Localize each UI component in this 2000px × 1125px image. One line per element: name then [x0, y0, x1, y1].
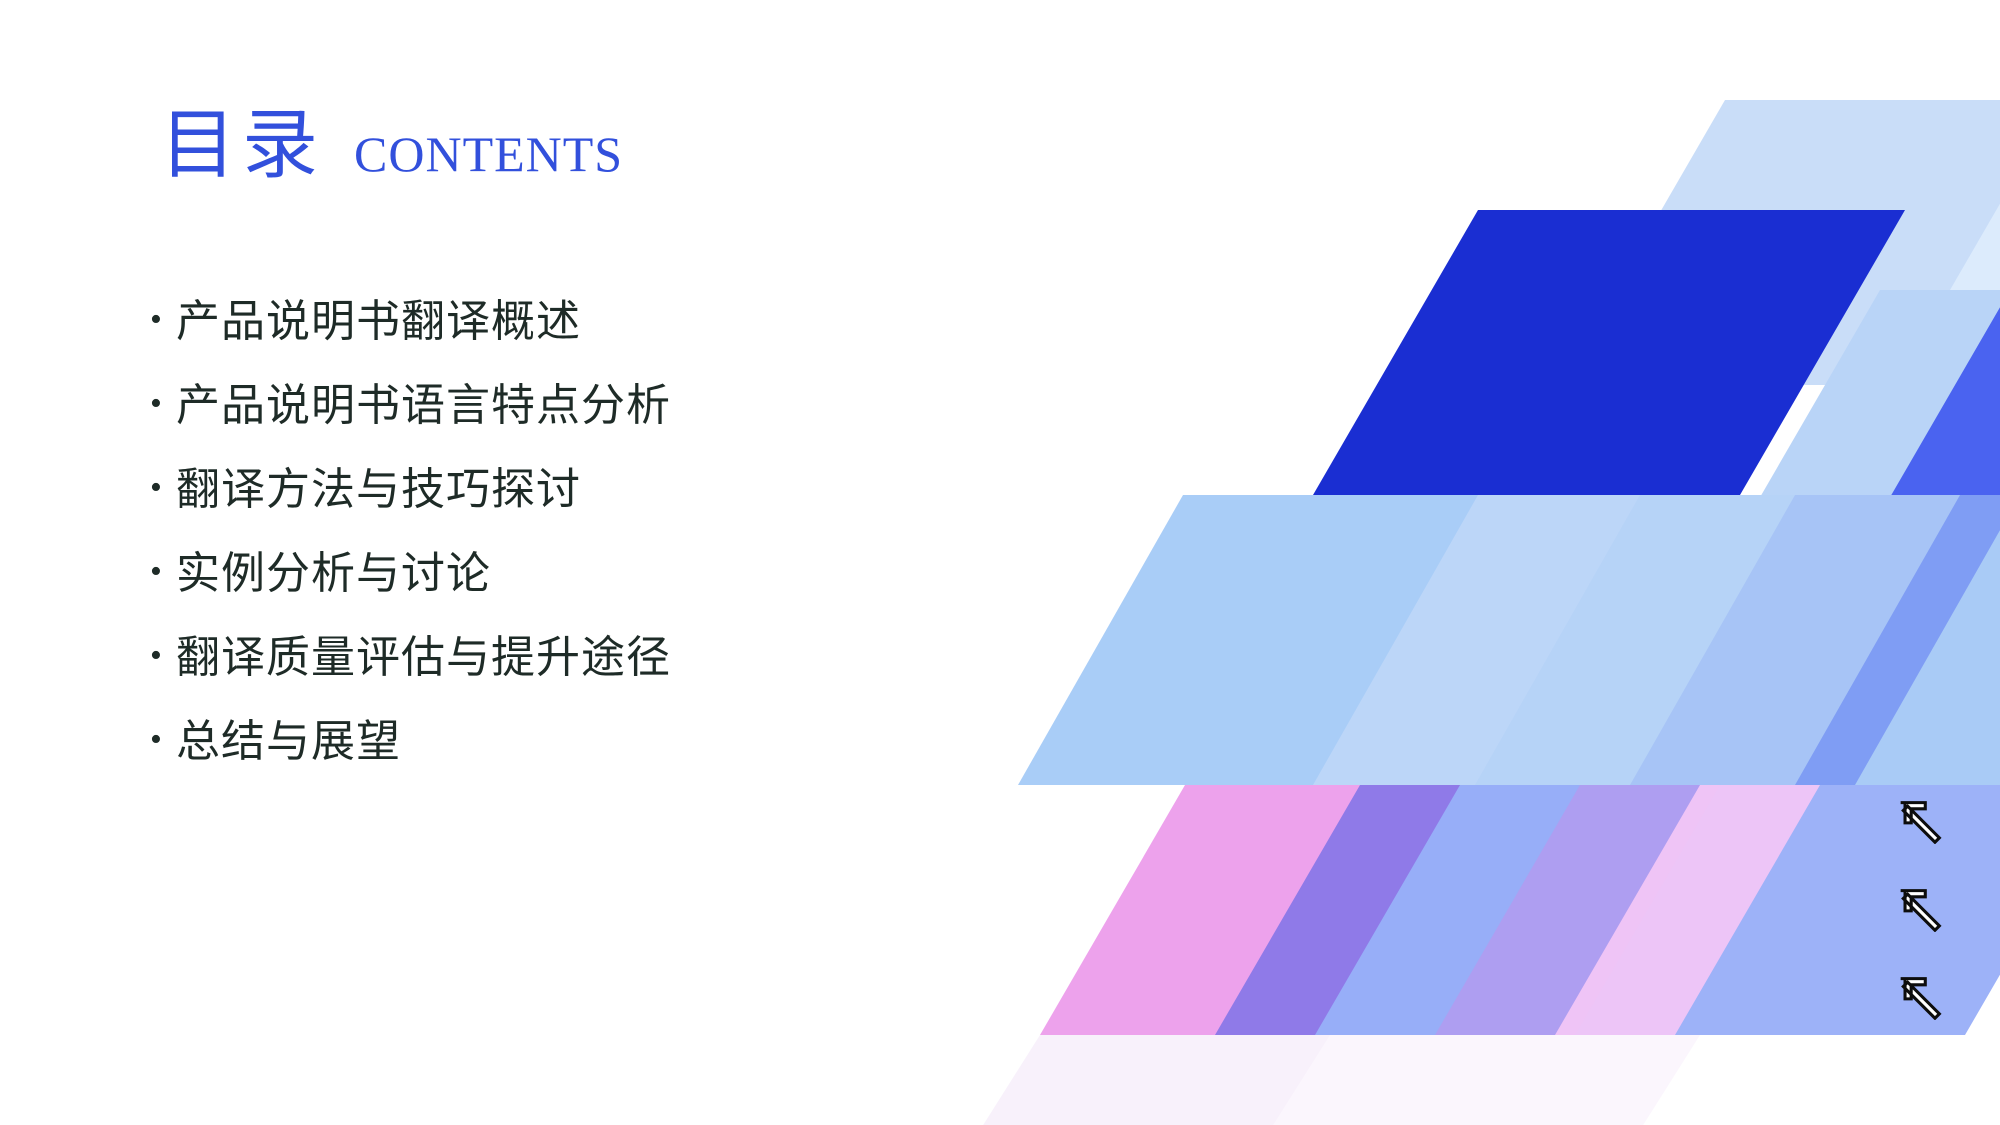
shape-pale-blue-row3-mid: [1313, 495, 1870, 785]
shape-mid-blue-row3-right: [1630, 495, 2000, 785]
bullet-dot-icon: •: [150, 723, 176, 757]
bullet-dot-icon: •: [150, 303, 176, 337]
contents-panel: 目录 CONTENTS • 产品说明书翻译概述 • 产品说明书语言特点分析 • …: [0, 0, 900, 1125]
bullet-dot-icon: •: [150, 471, 176, 505]
arrow-up-left-icon[interactable]: [1898, 976, 1942, 1020]
list-item[interactable]: • 产品说明书语言特点分析: [150, 384, 671, 468]
shape-sky-blue-row3-far-right: [1855, 495, 2000, 785]
list-item[interactable]: • 实例分析与讨论: [150, 552, 671, 636]
shape-royal-blue-row2: [1845, 290, 2000, 575]
bullet-dot-icon: •: [150, 555, 176, 589]
contents-item-label: 翻译质量评估与提升途径: [176, 636, 671, 680]
shape-pale-blue-top-right: [1560, 100, 2000, 385]
list-item[interactable]: • 总结与展望: [150, 720, 671, 804]
page-title-cn: 目录: [160, 108, 324, 184]
arrow-icon-stack: [1898, 800, 1942, 1020]
contents-item-label: 翻译方法与技巧探讨: [176, 468, 581, 512]
shape-periwinkle-row4-far-right: [1675, 785, 2000, 1035]
shape-sky-blue-row3-left: [1018, 495, 1530, 785]
bullet-dot-icon: •: [150, 387, 176, 421]
list-item[interactable]: • 产品说明书翻译概述: [150, 300, 671, 384]
shape-whisper-row5: [980, 1035, 1350, 1125]
arrow-up-left-icon[interactable]: [1898, 888, 1942, 932]
shape-violet-row4-right: [1435, 785, 1720, 1035]
shape-pink-row4-right: [1555, 785, 1840, 1035]
shape-pale-blue-row2-right: [1715, 290, 2000, 575]
arrow-up-left-icon[interactable]: [1898, 800, 1942, 844]
page-title-en: CONTENTS: [354, 129, 623, 179]
shape-violet-row4: [1215, 785, 1480, 1035]
shape-pink-row4-left: [1040, 785, 1380, 1035]
contents-item-label: 总结与展望: [176, 720, 401, 764]
list-item[interactable]: • 翻译方法与技巧探讨: [150, 468, 671, 552]
contents-item-label: 产品说明书语言特点分析: [176, 384, 671, 428]
slide-canvas: 目录 CONTENTS • 产品说明书翻译概述 • 产品说明书语言特点分析 • …: [0, 0, 2000, 1125]
list-item[interactable]: • 翻译质量评估与提升途径: [150, 636, 671, 720]
contents-item-label: 产品说明书翻译概述: [176, 300, 581, 344]
shape-lighter-blue-top-far-right: [1895, 100, 2000, 385]
shape-periwinkle-row4: [1315, 785, 1990, 1035]
bullet-dot-icon: •: [150, 639, 176, 673]
contents-list: • 产品说明书翻译概述 • 产品说明书语言特点分析 • 翻译方法与技巧探讨 • …: [150, 300, 671, 804]
page-title: 目录 CONTENTS: [160, 108, 623, 184]
contents-item-label: 实例分析与讨论: [176, 552, 491, 596]
shape-whisper-row5-right: [1270, 1035, 1700, 1125]
shape-pale-blue-row3-overlay: [1475, 495, 1960, 785]
shape-deep-blue-hero: [1313, 210, 1905, 495]
